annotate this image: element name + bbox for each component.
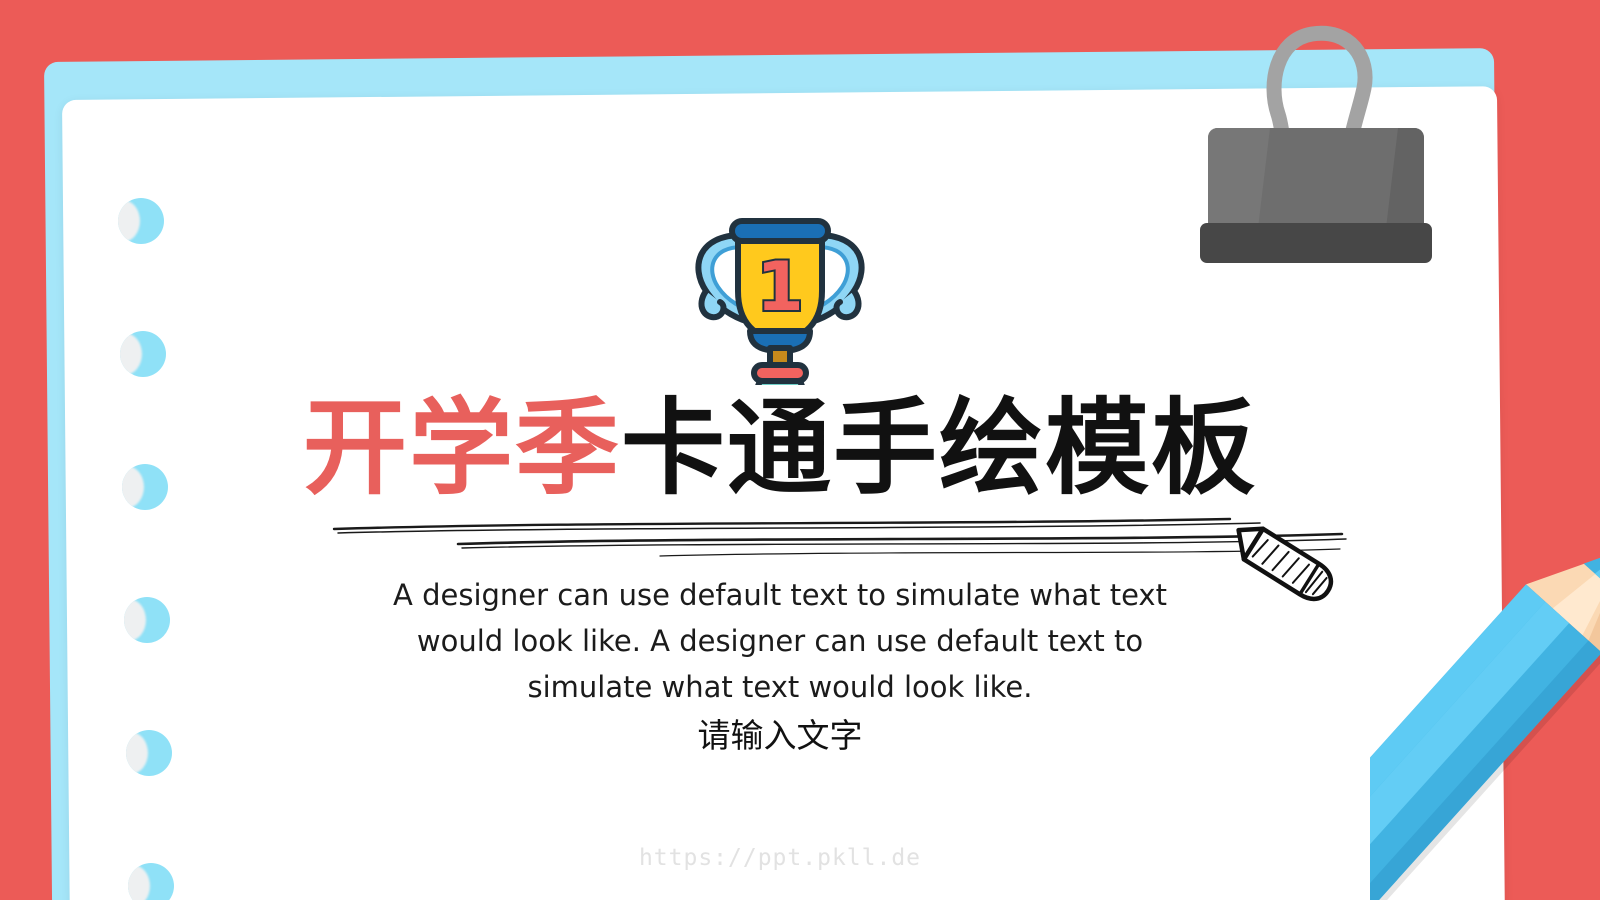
binder-hole — [118, 198, 164, 244]
binder-clip-icon — [1200, 18, 1450, 268]
pencil-icon — [1370, 480, 1600, 900]
binder-hole — [124, 597, 170, 643]
binder-hole — [126, 730, 172, 776]
slide-canvas: 1 开学季卡通手绘模板 — [0, 0, 1600, 900]
binder-hole — [120, 331, 166, 377]
binder-hole — [122, 464, 168, 510]
